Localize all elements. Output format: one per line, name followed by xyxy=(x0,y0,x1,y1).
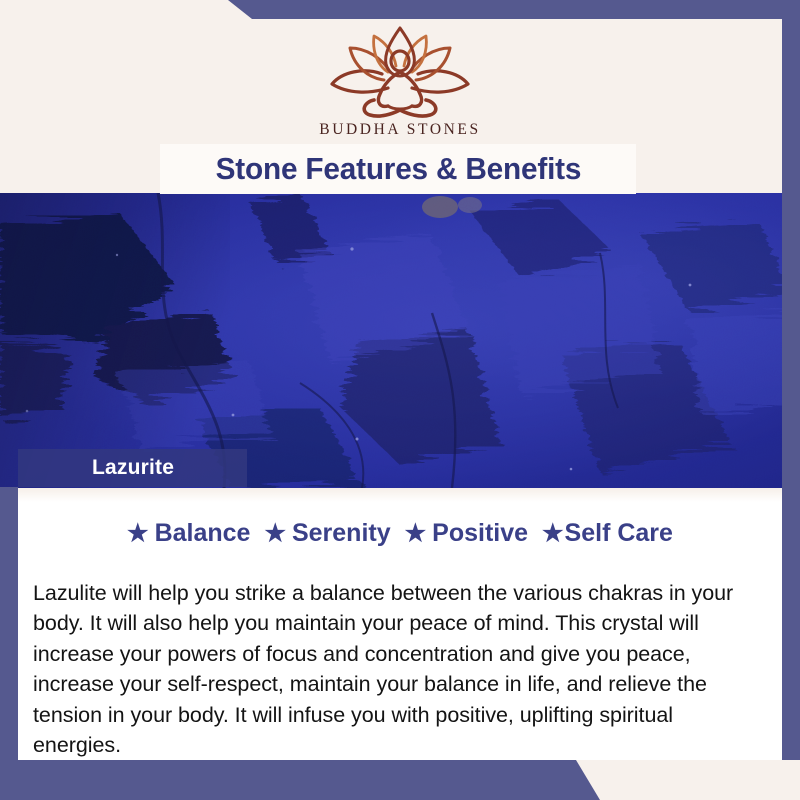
decor-left-band xyxy=(0,487,18,800)
lotus-meditation-icon xyxy=(314,22,486,118)
brand-logo: BUDDHA STONES xyxy=(0,22,800,139)
benefit-label: Serenity xyxy=(292,519,391,548)
page-title: Stone Features & Benefits xyxy=(215,151,581,187)
stone-name-label: Lazurite xyxy=(92,456,174,480)
star-icon: ★ xyxy=(264,522,286,546)
decor-right-band xyxy=(782,0,800,760)
stone-description: Lazulite will help you strike a balance … xyxy=(33,578,760,761)
benefit-item: ★ Serenity xyxy=(264,519,390,548)
benefit-item: ★ Balance xyxy=(127,519,250,548)
star-icon: ★ xyxy=(405,522,427,546)
brand-wordmark: BUDDHA STONES xyxy=(0,121,800,139)
stone-name-band: Lazurite xyxy=(18,449,247,487)
decor-bottom-band xyxy=(0,760,800,800)
benefit-label: Balance xyxy=(155,519,251,548)
star-icon: ★ xyxy=(542,522,564,546)
info-card: ★ Balance ★ Serenity ★ Positive ★ Self C… xyxy=(18,488,782,760)
benefit-item: ★ Self Care xyxy=(542,519,673,548)
stone-info-poster: BUDDHA STONES xyxy=(0,0,800,800)
title-banner: Stone Features & Benefits xyxy=(160,144,636,194)
benefit-label: Self Care xyxy=(565,519,673,548)
benefit-item: ★ Positive xyxy=(405,519,528,548)
card-top-fade xyxy=(18,488,782,502)
benefit-label: Positive xyxy=(432,519,528,548)
benefits-row: ★ Balance ★ Serenity ★ Positive ★ Self C… xyxy=(18,519,782,548)
lazurite-stone-photo xyxy=(0,193,800,488)
star-icon: ★ xyxy=(127,522,149,546)
